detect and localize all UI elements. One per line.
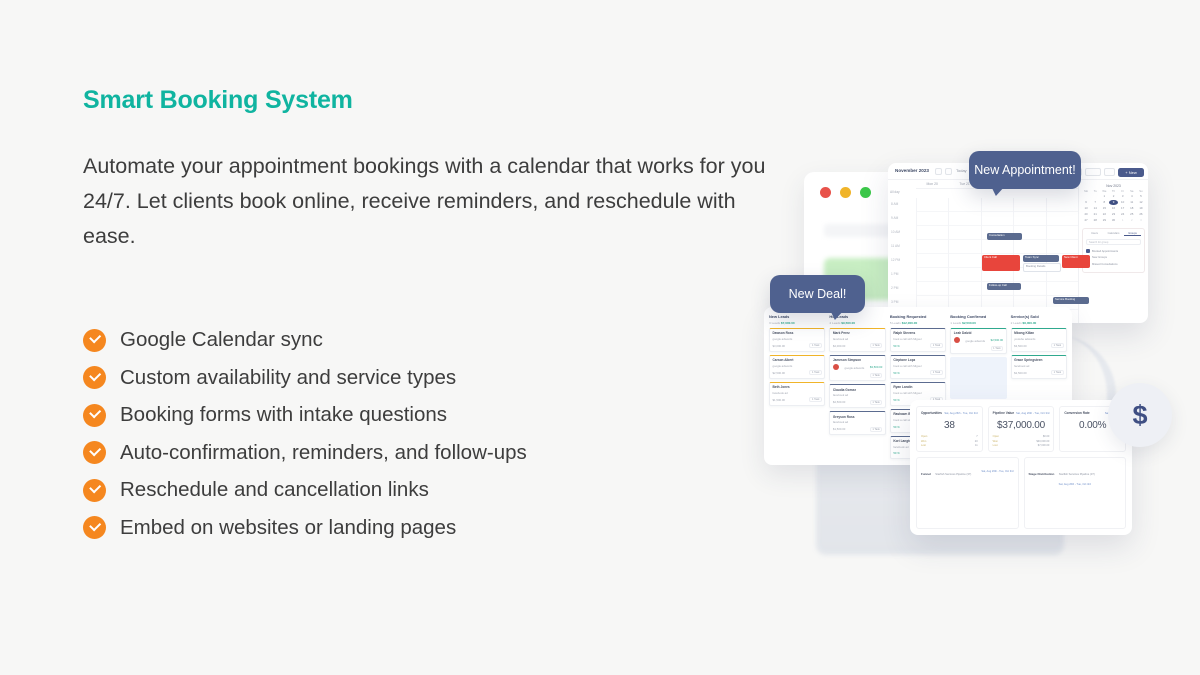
card-source: facebook ad <box>1014 364 1063 368</box>
calendar-event[interactable]: New Client <box>1062 255 1090 268</box>
card-value: $3,500.00 <box>870 365 882 369</box>
card-source: google adwords <box>845 366 865 370</box>
card-name: Beth Jones <box>773 385 822 389</box>
mini-day[interactable]: 14 <box>1091 206 1099 211</box>
feature-label: Reschedule and cancellation links <box>120 476 429 504</box>
calendar-filter-card: Users Calendars Groups Search for group … <box>1082 228 1145 273</box>
card-name: Mbong Killan <box>1014 331 1063 335</box>
mini-dow: Th <box>1109 190 1117 193</box>
card-badge: 1 Task <box>809 397 821 402</box>
dollar-badge: $ <box>1108 383 1172 447</box>
stat-card-opportunities: Opportunities Sat, Aug 26th - Tue, Oct 3… <box>916 406 983 452</box>
card-badge: 1 Task <box>991 346 1003 351</box>
legend-value: 7 <box>976 435 977 438</box>
slide-root: Smart Booking System Automate your appoi… <box>0 0 1200 675</box>
card-name: Greyson Ross <box>833 415 882 419</box>
check-circle-icon <box>83 479 106 502</box>
card-source: google adwords <box>773 364 822 368</box>
stat-label: Pipeline Value <box>993 411 1014 415</box>
panel-date-range: Sat, Aug 26th - Tue, Oct 3rd <box>981 470 1013 473</box>
hour-label: 12 PM <box>888 258 916 272</box>
card-source: book a call with Miguel <box>893 337 942 341</box>
check-circle-icon <box>83 516 106 539</box>
list-item[interactable]: Greyson Ross facebook ad $1,500.001 Task <box>829 411 885 435</box>
stat-label: Conversion Rate <box>1064 411 1089 415</box>
mini-day[interactable]: 27 <box>1082 218 1090 223</box>
calendar-event[interactable]: Team Sync <box>1023 255 1059 262</box>
column-count: 2 Leads <box>1011 321 1022 325</box>
mini-day[interactable]: 3 <box>1137 218 1145 223</box>
card-source: facebook ad <box>833 420 882 424</box>
mini-day[interactable] <box>1082 194 1090 199</box>
mini-day[interactable]: 2 <box>1128 218 1136 223</box>
stat-value: $37,000.00 <box>993 420 1050 431</box>
calendar-nav[interactable] <box>935 168 952 175</box>
mini-day[interactable]: 10 <box>1119 200 1127 205</box>
kanban-column-new-leads: New Leads 3 Leads $7,000.00 Dawson Ross … <box>769 314 825 458</box>
column-count: 3 Leads <box>769 321 780 325</box>
column-title: Service(s) Sold <box>1011 314 1067 319</box>
list-item: Embed on websites or landing pages <box>83 514 773 542</box>
card-source: book a call with Miguel <box>893 364 942 368</box>
mini-day[interactable] <box>1091 194 1099 199</box>
mini-calendar-title: Nov 2023 <box>1082 184 1145 188</box>
legend-key: Lost <box>993 444 998 447</box>
calendar-event[interactable]: Service Booking <box>1053 297 1089 304</box>
calendar-event[interactable]: Follow-up Call <box>987 283 1021 290</box>
mini-day[interactable]: 21 <box>1091 212 1099 217</box>
card-badge: 1 Task <box>1051 343 1063 348</box>
list-item[interactable]: Leah Dalzid google adwords$2,500.00 1 Ta… <box>950 328 1006 355</box>
card-source: google adwords <box>773 337 822 341</box>
kanban-drop-zone[interactable] <box>950 357 1006 399</box>
check-circle-icon <box>83 329 106 352</box>
legend-value: 11 <box>975 444 978 447</box>
mini-day[interactable]: 1 <box>1100 194 1108 199</box>
mini-day[interactable]: 12 <box>1137 200 1145 205</box>
panel-selector[interactable]: Starfish Services Pipeline (37) <box>1059 473 1095 476</box>
mini-calendar-grid[interactable]: Mo Tu We Th Fr Sa Su 1 2 3 4 5 <box>1082 190 1145 223</box>
calendar-hour-axis: 8 AM 9 AM 10 AM 11 AM 12 PM 1 PM 2 PM 3 … <box>888 202 916 314</box>
day-label: Mon 20 <box>916 180 948 188</box>
legend-value: 20 <box>975 440 978 443</box>
hour-label: 9 AM <box>888 216 916 230</box>
list-item: Reschedule and cancellation links <box>83 476 773 504</box>
list-item[interactable]: Mark Perez facebook ad $2,000.001 Task <box>829 328 885 352</box>
column-count: 4 Leads <box>829 321 840 325</box>
legend-value: $7,000.00 <box>1038 444 1050 447</box>
checkbox-icon[interactable] <box>1086 249 1090 253</box>
column-amount: $6,000.00 <box>1023 321 1037 325</box>
mini-day[interactable]: 13 <box>1082 206 1090 211</box>
list-item: Booking forms with intake questions <box>83 401 773 429</box>
calendar-event[interactable]: Booking Details <box>1023 263 1061 272</box>
card-value: $2,000.00 <box>833 344 845 348</box>
card-value: $2,500.00 <box>991 338 1003 342</box>
legend-key: Lost <box>921 444 926 447</box>
funnel-panel: Funnel Starfish Services Pipeline (37) S… <box>916 457 1019 529</box>
mini-dow: Mo <box>1082 190 1090 193</box>
card-name: Mark Perez <box>833 331 882 335</box>
column-count: 5 Leads <box>890 321 901 325</box>
card-value: $2,500.00 <box>773 371 785 375</box>
mini-day[interactable]: 16 <box>1109 206 1117 211</box>
mini-day[interactable]: 8 <box>1100 200 1108 205</box>
card-name: Ralph Stevens <box>893 331 942 335</box>
card-value: $3,500.00 <box>1014 344 1026 348</box>
card-name: Cleptone Lopz <box>893 358 942 362</box>
mini-day[interactable]: 11 <box>1128 200 1136 205</box>
mini-dow: Sa <box>1128 190 1136 193</box>
card-source: facebook ad <box>773 391 822 395</box>
intro-paragraph: Automate your appointment bookings with … <box>83 149 773 254</box>
maximize-icon <box>860 187 871 198</box>
legend-key: Open <box>921 435 927 438</box>
card-badge: 1 Task <box>870 400 882 405</box>
mini-dow: Fr <box>1119 190 1127 193</box>
hour-label: 2 PM <box>888 286 916 300</box>
mini-dow: Su <box>1137 190 1145 193</box>
search-input[interactable]: Search for group <box>1086 239 1141 245</box>
new-event-button[interactable]: + New <box>1118 168 1144 177</box>
filter-option[interactable]: New Groups <box>1086 256 1141 260</box>
filter-option-label: Booked Appointments <box>1092 250 1118 253</box>
card-badge: 1 Task <box>809 370 821 375</box>
mini-day[interactable]: 24 <box>1119 212 1127 217</box>
feature-label: Google Calendar sync <box>120 326 323 354</box>
tab-calendars[interactable]: Calendars <box>1105 232 1122 236</box>
new-appointment-tooltip: New Appointment! <box>969 151 1081 189</box>
card-value: $2,500.00 <box>833 400 845 404</box>
list-item[interactable]: Grace Springsteen facebook ad $2,500.001… <box>1011 355 1067 379</box>
check-circle-icon <box>83 404 106 427</box>
minimize-icon <box>840 187 851 198</box>
dollar-icon: $ <box>1132 402 1147 429</box>
calendar-event[interactable]: Consultation <box>987 233 1022 240</box>
kanban-column-hot-leads: Hot Leads 4 Leads $9,500.00 Mark Perez f… <box>829 314 885 458</box>
card-name: Dawson Ross <box>773 331 822 335</box>
card-source: facebook ad <box>833 337 882 341</box>
avatar <box>833 364 839 370</box>
mini-day[interactable]: 3 <box>1119 194 1127 199</box>
column-amount: $12,000.00 <box>902 321 917 325</box>
calendar-month-title: November 2023 <box>895 168 929 173</box>
hour-label: 10 AM <box>888 230 916 244</box>
mini-day[interactable]: 22 <box>1100 212 1108 217</box>
card-value: 50 % <box>893 344 899 348</box>
card-name: Claudia Gomez <box>833 388 882 392</box>
panel-date-range: Sat, Aug 26th - Tue, Oct 3rd <box>1029 483 1122 486</box>
mini-dow: We <box>1100 190 1108 193</box>
page-title: Smart Booking System <box>83 86 773 115</box>
view-all-button[interactable] <box>1104 168 1115 176</box>
card-badge: 1 Task <box>809 343 821 348</box>
filter-tabs[interactable]: Users Calendars Groups <box>1086 232 1141 236</box>
hour-label: 8 AM <box>888 202 916 216</box>
feature-list: Google Calendar sync Custom availability… <box>83 326 773 542</box>
column-title: New Leads <box>769 314 825 319</box>
legend-key: Won <box>993 440 998 443</box>
card-source: google adwords <box>965 339 985 343</box>
column-title: Booking Requested <box>890 314 946 319</box>
avatar <box>954 337 960 343</box>
mini-day[interactable]: 2 <box>1109 194 1117 199</box>
card-name: Jameson Simpson <box>833 358 882 362</box>
hour-label: 1 PM <box>888 272 916 286</box>
card-value: 50 % <box>893 425 899 429</box>
list-item[interactable]: Claudia Gomez facebook ad $2,500.001 Tas… <box>829 384 885 408</box>
column-amount: $7,000.00 <box>781 321 795 325</box>
list-item: Google Calendar sync <box>83 326 773 354</box>
column-title: Booking Confirmed <box>950 314 1006 319</box>
card-value: 50 % <box>893 371 899 375</box>
filter-option-label: Missed Consultations <box>1092 263 1118 266</box>
card-badge: 1 Task <box>870 343 882 348</box>
analytics-dashboard-mock: Opportunities Sat, Aug 26th - Tue, Oct 3… <box>910 400 1132 535</box>
card-name: Leah Dalzid <box>954 331 1003 335</box>
mini-day[interactable]: 6 <box>1082 200 1090 205</box>
check-circle-icon <box>83 441 106 464</box>
calendar-grid: Mon 20 Tue 21 Wed 22 Thu 23 Fri 24 All d… <box>888 180 1078 323</box>
legend-value: $30,000.00 <box>1036 440 1049 443</box>
mini-day[interactable]: 7 <box>1091 200 1099 205</box>
list-item[interactable]: Ralph Stevens book a call with Miguel 50… <box>890 328 946 352</box>
mini-day-selected[interactable]: 9 <box>1109 200 1117 205</box>
stat-date-range: Sat, Aug 26th - Tue, Oct 3rd <box>1016 412 1049 415</box>
filter-option[interactable]: Booked Appointments <box>1086 249 1141 253</box>
list-item[interactable]: Dawson Ross google adwords $3,000.001 Ta… <box>769 328 825 352</box>
card-badge: 1 Task <box>930 370 942 375</box>
card-value: $1,500.00 <box>773 398 785 402</box>
card-name: Carson Albert <box>773 358 822 362</box>
list-item[interactable]: Carson Albert google adwords $2,500.001 … <box>769 355 825 379</box>
legend-key: Won <box>921 440 926 443</box>
panel-title: Funnel <box>921 472 931 476</box>
mini-day[interactable]: 28 <box>1091 218 1099 223</box>
card-name: Grace Springsteen <box>1014 358 1063 362</box>
close-icon <box>820 187 831 198</box>
chevron-right-icon[interactable] <box>945 168 952 175</box>
card-value: $3,000.00 <box>773 344 785 348</box>
filter-option-label: New Groups <box>1092 256 1107 259</box>
mini-day[interactable]: 30 <box>1109 218 1117 223</box>
product-illustration: November 2023 Today + New Mon 20 <box>760 135 1190 560</box>
stat-card-pipeline-value: Pipeline Value Sat, Aug 26th - Tue, Oct … <box>988 406 1055 452</box>
card-value: 50 % <box>893 398 899 402</box>
content-column: Smart Booking System Automate your appoi… <box>83 86 773 542</box>
mini-day[interactable]: 4 <box>1128 194 1136 199</box>
tab-groups[interactable]: Groups <box>1124 232 1141 236</box>
legend-value: $0.00 <box>1043 435 1050 438</box>
stat-label: Opportunities <box>921 411 942 415</box>
mini-day[interactable]: 18 <box>1128 206 1136 211</box>
mini-day[interactable]: 25 <box>1128 212 1136 217</box>
mini-day[interactable]: 20 <box>1082 212 1090 217</box>
card-badge: 1 Task <box>870 427 882 432</box>
new-deal-tooltip: New Deal! <box>770 275 865 313</box>
stat-date-range: Sat, Aug 26th - Tue, Oct 3rd <box>944 412 977 415</box>
mini-day[interactable]: 1 <box>1119 218 1127 223</box>
mini-day[interactable]: 23 <box>1109 212 1117 217</box>
stat-value: 38 <box>921 420 978 431</box>
list-item[interactable]: Jameson Simpson google adwords$3,500.00 … <box>829 355 885 382</box>
mini-day[interactable]: 5 <box>1137 194 1145 199</box>
card-source: book a call with Miguel <box>893 391 942 395</box>
card-source: facebook ad <box>833 393 882 397</box>
mini-day[interactable]: 29 <box>1100 218 1108 223</box>
stage-distribution-panel: Stage Distribution Starfish Services Pip… <box>1024 457 1127 529</box>
card-value: $2,500.00 <box>1014 371 1026 375</box>
card-badge: 1 Task <box>930 343 942 348</box>
mini-day[interactable]: 19 <box>1137 206 1145 211</box>
column-amount: $9,500.00 <box>841 321 855 325</box>
chevron-left-icon[interactable] <box>935 168 942 175</box>
legend-key: Open <box>993 435 999 438</box>
card-name: Ryan Landin <box>893 385 942 389</box>
view-month-button[interactable] <box>1085 168 1101 176</box>
calendar-event[interactable]: Client Call <box>982 255 1020 271</box>
panel-selector[interactable]: Starfish Services Pipeline (37) <box>935 473 971 476</box>
column-amount: $2,500.00 <box>962 321 976 325</box>
panel-title: Stage Distribution <box>1029 472 1055 476</box>
list-item: Auto-confirmation, reminders, and follow… <box>83 439 773 467</box>
feature-label: Embed on websites or landing pages <box>120 514 456 542</box>
card-badge: 1 Task <box>870 373 882 378</box>
chart-panel-row: Funnel Starfish Services Pipeline (37) S… <box>916 457 1126 529</box>
feature-label: Booking forms with intake questions <box>120 401 447 429</box>
filter-option[interactable]: Missed Consultations <box>1086 262 1141 266</box>
mini-dow: Tu <box>1091 190 1099 193</box>
mini-day[interactable]: 15 <box>1100 206 1108 211</box>
mini-day[interactable]: 26 <box>1137 212 1145 217</box>
list-item: Custom availability and service types <box>83 364 773 392</box>
list-item[interactable]: Mbong Killan youtube adwords $3,500.001 … <box>1011 328 1067 352</box>
tab-users[interactable]: Users <box>1086 232 1103 236</box>
feature-label: Custom availability and service types <box>120 364 456 392</box>
all-day-label: All day <box>890 190 900 194</box>
list-item[interactable]: Cleptone Lopz book a call with Miguel 50… <box>890 355 946 379</box>
card-value: $1,500.00 <box>833 427 845 431</box>
card-badge: 1 Task <box>1051 370 1063 375</box>
hour-label: 11 AM <box>888 244 916 258</box>
card-source: youtube adwords <box>1014 337 1063 341</box>
check-circle-icon <box>83 366 106 389</box>
window-traffic-lights <box>820 187 871 198</box>
list-item[interactable]: Beth Jones facebook ad $1,500.001 Task <box>769 382 825 406</box>
stat-card-row: Opportunities Sat, Aug 26th - Tue, Oct 3… <box>916 406 1126 452</box>
column-count: 1 Leads <box>950 321 961 325</box>
card-value: 50 % <box>893 451 899 455</box>
feature-label: Auto-confirmation, reminders, and follow… <box>120 439 527 467</box>
today-button[interactable]: Today <box>956 168 967 173</box>
mini-day[interactable]: 17 <box>1119 206 1127 211</box>
